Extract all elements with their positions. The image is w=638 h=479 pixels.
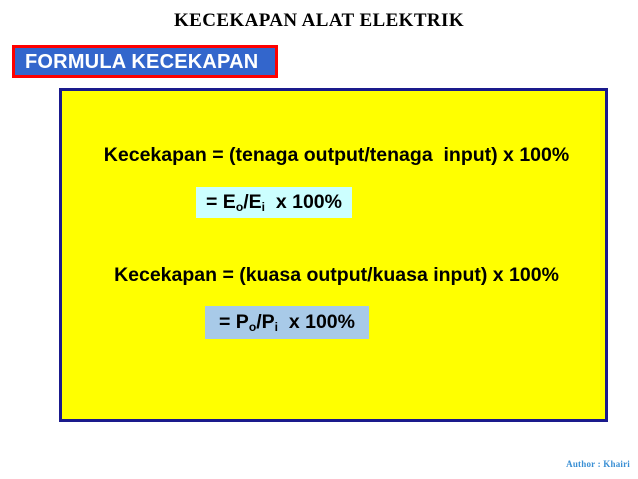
formula-section-banner-label: FORMULA KECEKAPAN xyxy=(25,52,258,72)
power-efficiency-symbolic-formula: = Po/Pi x 100% xyxy=(205,306,369,339)
slide-canvas: KECEKAPAN ALAT ELEKTRIK FORMULA KECEKAPA… xyxy=(0,0,638,479)
energy-formula-divider: /E xyxy=(243,193,261,213)
power-formula-divider: /P xyxy=(256,313,274,333)
formula-content-box: Kecekapan = (tenaga output/tenaga input)… xyxy=(59,88,608,422)
energy-formula-prefix: = E xyxy=(206,193,236,213)
power-efficiency-formula: Kecekapan = (kuasa output/kuasa input) x… xyxy=(79,266,594,286)
power-formula-suffix: x 100% xyxy=(278,313,355,333)
author-credit: Author : Khairi xyxy=(566,459,630,469)
power-formula-prefix: = P xyxy=(219,313,249,333)
page-title: KECEKAPAN ALAT ELEKTRIK xyxy=(0,10,638,32)
formula-section-banner: FORMULA KECEKAPAN xyxy=(12,45,278,78)
energy-output-subscript: o xyxy=(236,201,243,213)
energy-input-subscript: i xyxy=(262,201,265,213)
energy-efficiency-symbolic-formula: = Eo/Ei x 100% xyxy=(196,187,352,218)
power-output-subscript: o xyxy=(249,321,256,333)
energy-formula-suffix: x 100% xyxy=(265,193,342,213)
energy-efficiency-formula: Kecekapan = (tenaga output/tenaga input)… xyxy=(79,146,594,166)
power-input-subscript: i xyxy=(275,321,278,333)
